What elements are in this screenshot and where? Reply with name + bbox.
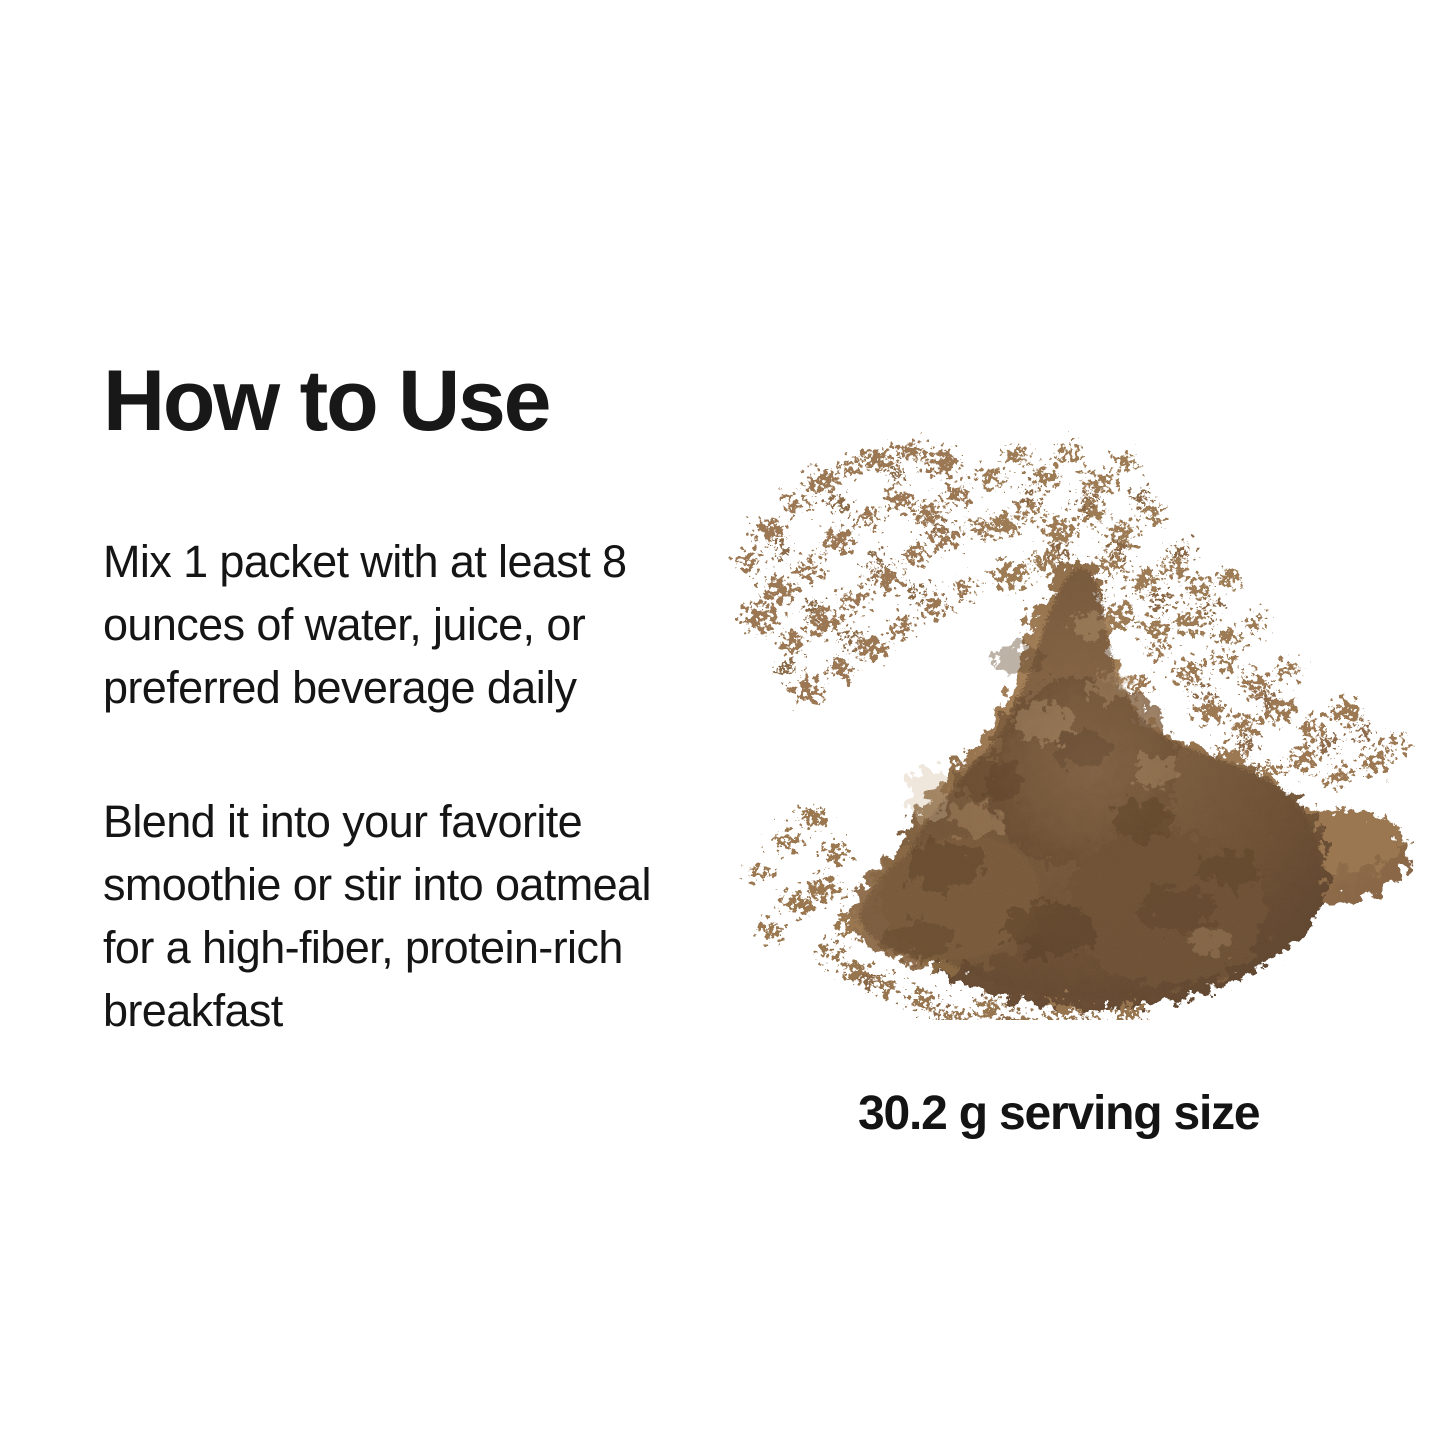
serving-size-caption: 30.2 g serving size bbox=[858, 1086, 1259, 1141]
page-title: How to Use bbox=[103, 358, 683, 446]
instructions-text-column: How to Use Mix 1 packet with at least 8 … bbox=[103, 358, 683, 1042]
powder-scatter-left bbox=[752, 809, 860, 937]
instruction-paragraph-2: Blend it into your favorite smoothie or … bbox=[103, 790, 663, 1042]
product-instructions-panel: How to Use Mix 1 packet with at least 8 … bbox=[0, 0, 1445, 1445]
powder-pile-illustration bbox=[690, 400, 1420, 1020]
powder-product-image bbox=[690, 400, 1420, 1020]
powder-scatter-top bbox=[978, 447, 1266, 644]
instruction-paragraph-1: Mix 1 packet with at least 8 ounces of w… bbox=[103, 530, 663, 719]
powder-scatter-upper-left bbox=[739, 444, 986, 700]
